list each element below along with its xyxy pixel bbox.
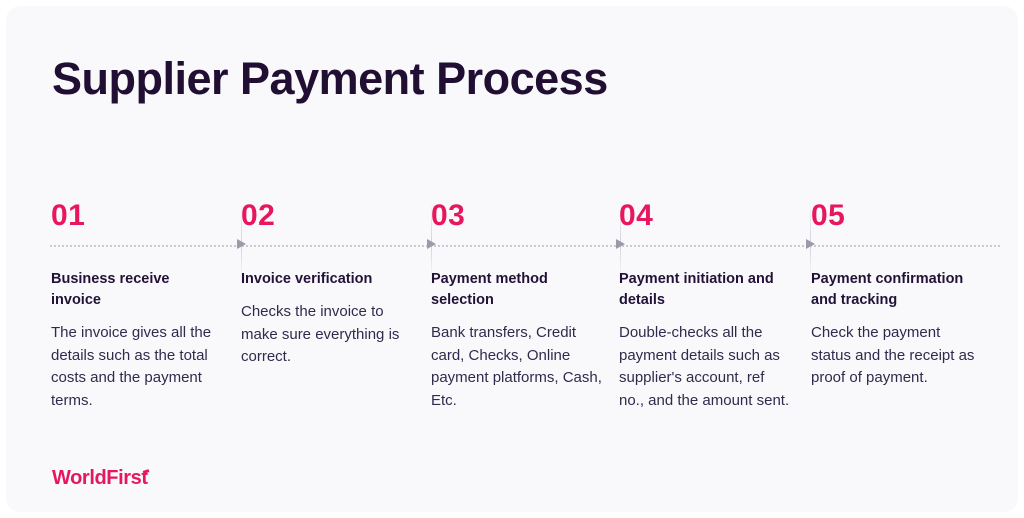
step-column-05: 05 Payment confirmation and tracking Che… [811, 201, 983, 390]
step-column-03: 03 Payment method selection Bank transfe… [431, 201, 603, 412]
step-number: 02 [241, 201, 413, 231]
step-body: Checks the invoice to make sure everythi… [241, 301, 413, 369]
step-number: 01 [51, 201, 223, 231]
step-number: 04 [619, 201, 791, 231]
step-body: Double-checks all the payment details su… [619, 322, 791, 412]
worldfirst-logo: WorldFirst [52, 468, 148, 488]
step-column-01: 01 Business receive invoice The invoice … [51, 201, 223, 412]
step-body: The invoice gives all the details such a… [51, 322, 223, 412]
logo-text-main: WorldFirs [52, 467, 141, 489]
timeline: 01 Business receive invoice The invoice … [6, 201, 1018, 451]
logo-text-tail: t [141, 467, 147, 489]
step-body: Bank transfers, Credit card, Checks, Onl… [431, 322, 603, 412]
step-heading: Business receive invoice [51, 269, 223, 311]
page-title: Supplier Payment Process [52, 54, 608, 104]
step-column-04: 04 Payment initiation and details Double… [619, 201, 791, 412]
step-number: 05 [811, 201, 983, 231]
step-body: Check the payment status and the receipt… [811, 322, 983, 390]
infographic-card: Supplier Payment Process 01 Business rec… [6, 6, 1018, 512]
step-number: 03 [431, 201, 603, 231]
step-heading: Payment initiation and details [619, 269, 791, 311]
step-heading: Payment method selection [431, 269, 603, 311]
step-heading: Payment confirmation and tracking [811, 269, 983, 311]
step-column-02: 02 Invoice verification Checks the invoi… [241, 201, 413, 369]
step-heading: Invoice verification [241, 269, 413, 290]
